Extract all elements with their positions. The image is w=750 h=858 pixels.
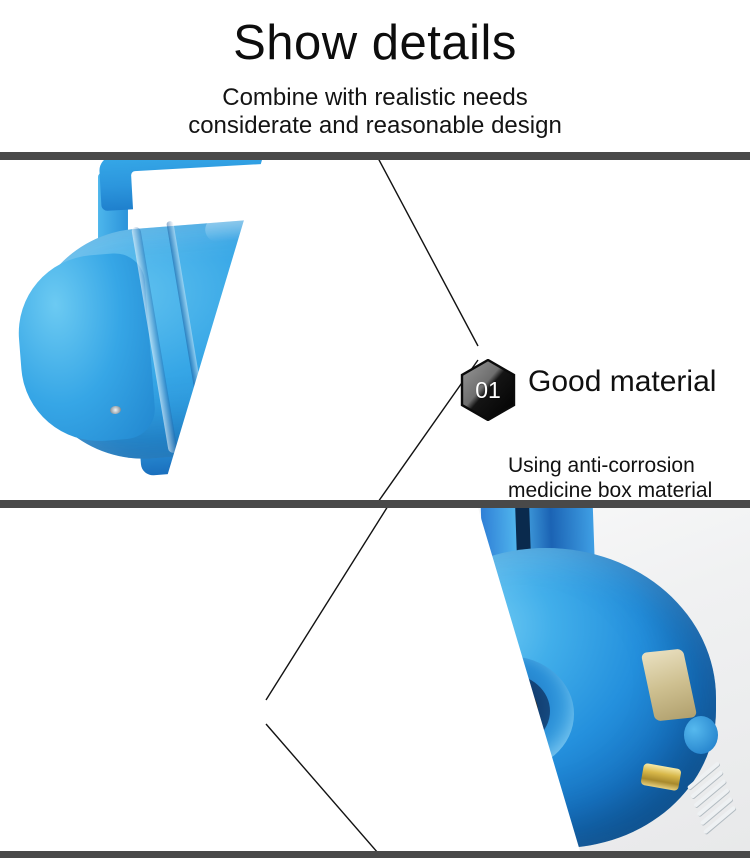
section-01-line-2: medicine box material — [508, 478, 712, 500]
product-detail-page: Show details Combine with realistic need… — [0, 0, 750, 858]
section-good-material: 01 Good material Using anti-corrosion me… — [0, 160, 750, 500]
divider-bottom — [0, 851, 750, 858]
tank-end-cap — [13, 251, 157, 447]
hex-badge-01-number: 01 — [460, 359, 516, 421]
page-title: Show details — [0, 14, 750, 72]
page-subtitle-line-2: considerate and reasonable design — [0, 112, 750, 140]
section-01-line-1: Using anti-corrosion — [508, 453, 712, 478]
section-01-heading: Good material — [528, 365, 716, 399]
section-01-text-group-1: Using anti-corrosion medicine box materi… — [508, 453, 712, 500]
product-photo-body — [0, 160, 460, 500]
divider-middle — [0, 500, 750, 508]
product-photo-nozzle — [280, 508, 750, 851]
section-nozzle: 02 Nozzle Anti-corrosion material nozzle… — [0, 508, 750, 851]
hex-badge-01: 01 — [460, 359, 516, 421]
head-side-nub — [684, 716, 718, 754]
divider-top — [0, 152, 750, 160]
page-header: Show details Combine with realistic need… — [0, 0, 750, 148]
page-subtitle-line-1: Combine with realistic needs — [0, 84, 750, 112]
